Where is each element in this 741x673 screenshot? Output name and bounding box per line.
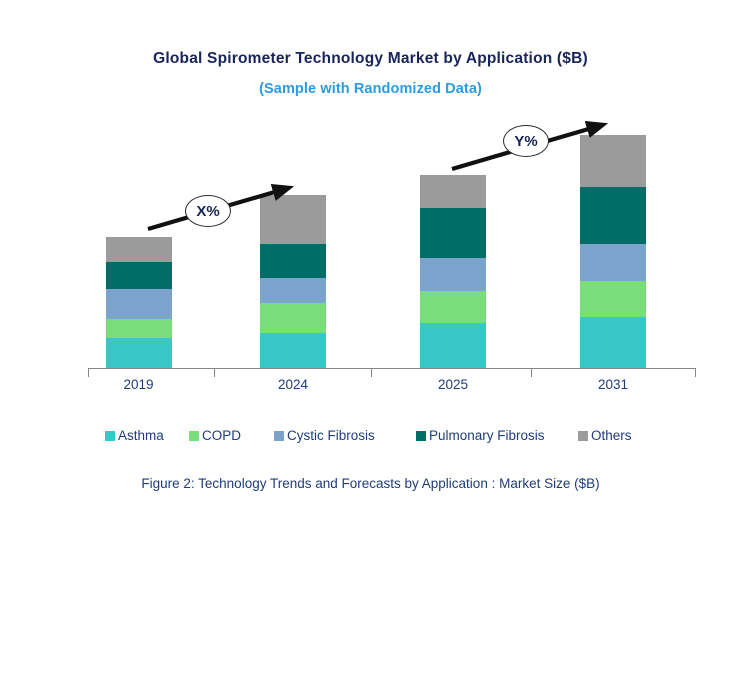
legend-item-pulmonary-fibrosis[interactable]: Pulmonary Fibrosis (416, 428, 545, 443)
chart-legend: AsthmaCOPDCystic FibrosisPulmonary Fibro… (88, 428, 696, 450)
x-axis-tick-1 (214, 368, 215, 377)
legend-label-others: Others (591, 428, 632, 443)
legend-swatch-cystic-fibrosis (274, 431, 284, 441)
bar-segment-cystic-fibrosis-2024 (260, 278, 326, 303)
bar-2025 (420, 175, 486, 369)
legend-item-others[interactable]: Others (578, 428, 632, 443)
bar-segment-copd-2019 (106, 319, 172, 338)
bar-segment-cystic-fibrosis-2025 (420, 258, 486, 291)
bar-segment-pulmonary-fibrosis-2031 (580, 187, 646, 244)
bar-segment-others-2025 (420, 175, 486, 208)
legend-swatch-asthma (105, 431, 115, 441)
bar-segment-asthma-2024 (260, 333, 326, 369)
legend-swatch-others (578, 431, 588, 441)
legend-label-pulmonary-fibrosis: Pulmonary Fibrosis (429, 428, 545, 443)
bar-segment-pulmonary-fibrosis-2025 (420, 208, 486, 258)
x-axis-tick-4 (695, 368, 696, 377)
growth-badge-y: Y% (503, 125, 549, 157)
bar-2031 (580, 135, 646, 369)
x-axis-tick-0 (88, 368, 89, 377)
x-axis-tick-3 (531, 368, 532, 377)
bar-segment-asthma-2025 (420, 323, 486, 369)
x-axis-label-2019: 2019 (79, 377, 199, 392)
bar-2024 (260, 195, 326, 369)
legend-item-cystic-fibrosis[interactable]: Cystic Fibrosis (274, 428, 375, 443)
legend-swatch-pulmonary-fibrosis (416, 431, 426, 441)
bar-segment-others-2024 (260, 195, 326, 244)
bar-segment-asthma-2031 (580, 317, 646, 369)
x-axis-label-2025: 2025 (393, 377, 513, 392)
chart-subtitle: (Sample with Randomized Data) (0, 81, 741, 97)
growth-badge-x: X% (185, 195, 231, 227)
bar-segment-pulmonary-fibrosis-2019 (106, 262, 172, 289)
chart-title: Global Spirometer Technology Market by A… (0, 50, 741, 68)
legend-label-asthma: Asthma (118, 428, 164, 443)
bar-segment-cystic-fibrosis-2019 (106, 289, 172, 319)
legend-item-asthma[interactable]: Asthma (105, 428, 164, 443)
bar-segment-pulmonary-fibrosis-2024 (260, 244, 326, 278)
figure-caption: Figure 2: Technology Trends and Forecast… (0, 476, 741, 491)
legend-label-copd: COPD (202, 428, 241, 443)
bar-segment-cystic-fibrosis-2031 (580, 244, 646, 281)
bar-segment-others-2019 (106, 237, 172, 262)
legend-swatch-copd (189, 431, 199, 441)
legend-label-cystic-fibrosis: Cystic Fibrosis (287, 428, 375, 443)
x-axis-label-2031: 2031 (553, 377, 673, 392)
bar-segment-copd-2025 (420, 291, 486, 323)
bar-segment-copd-2031 (580, 281, 646, 317)
legend-item-copd[interactable]: COPD (189, 428, 241, 443)
bar-segment-asthma-2019 (106, 338, 172, 369)
chart-figure: Global Spirometer Technology Market by A… (0, 0, 741, 673)
bar-2019 (106, 237, 172, 369)
bar-segment-copd-2024 (260, 303, 326, 333)
plot-area (88, 110, 696, 369)
bar-segment-others-2031 (580, 135, 646, 187)
x-axis-label-2024: 2024 (233, 377, 353, 392)
x-axis-line (88, 368, 696, 369)
x-axis-tick-2 (371, 368, 372, 377)
